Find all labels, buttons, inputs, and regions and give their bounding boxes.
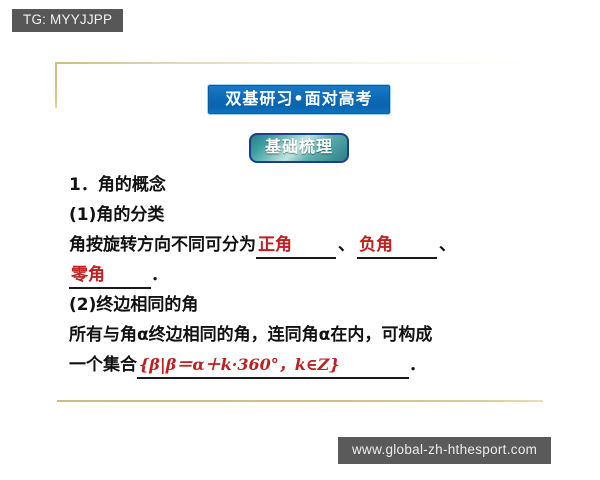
blank-separator-2: 、 — [437, 235, 458, 255]
set-builder-formula: {β|β＝α＋k·360°，k∈Z} — [139, 355, 340, 374]
sentence-terminator-1: ． — [151, 265, 168, 285]
slide-frame: 双基研习•面对高考 基础梳理 1．角的概念 (1)角的分类 角按旋转方向不同可分… — [55, 62, 543, 402]
subbanner-row: 基础梳理 — [55, 133, 543, 163]
site-watermark: www.global-zh-hthesport.com — [338, 437, 551, 464]
frame-bottom-rule — [57, 400, 543, 402]
blank-coterminal-set: {β|β＝α＋k·360°，k∈Z} — [137, 354, 409, 379]
section-banner: 双基研习•面对高考 — [207, 84, 390, 115]
slide-body: 1．角的概念 (1)角的分类 角按旋转方向不同可分为正角、负角、零角． (2)终… — [69, 170, 539, 380]
blank-positive-angle: 正角 — [256, 234, 336, 259]
subsection-banner: 基础梳理 — [249, 133, 349, 163]
tg-watermark-tag: TG: MYYJJPP — [12, 9, 123, 32]
blank-separator-1: 、 — [336, 235, 357, 255]
section-1-heading: 1．角的概念 — [69, 170, 539, 200]
coterminal-sentence-line-2: 一个集合{β|β＝α＋k·360°，k∈Z}． — [69, 350, 539, 380]
banner-row: 双基研习•面对高考 — [55, 84, 543, 115]
section-2-subheading: (2)终边相同的角 — [69, 290, 539, 320]
frame-top-rule — [55, 62, 543, 64]
coterminal-sentence-line-1: 所有与角α终边相同的角，连同角α在内，可构成 — [69, 320, 539, 350]
blank-negative-angle: 负角 — [357, 234, 437, 259]
angle-classification-sentence: 角按旋转方向不同可分为正角、负角、零角． — [69, 230, 539, 290]
sentence-terminator-2: ． — [409, 355, 426, 375]
sentence-prefix: 角按旋转方向不同可分为 — [69, 235, 256, 255]
section-1-subheading: (1)角的分类 — [69, 200, 539, 230]
blank-zero-angle: 零角 — [69, 264, 151, 289]
set-sentence-prefix: 一个集合 — [69, 355, 137, 375]
